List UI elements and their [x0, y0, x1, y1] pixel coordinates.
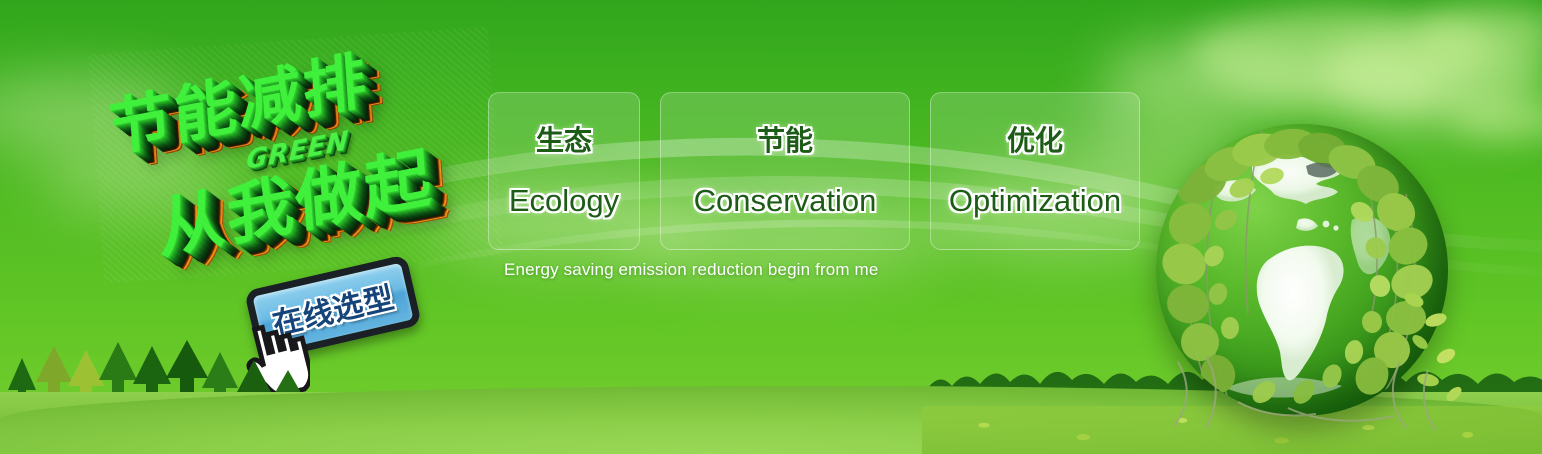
leafy-globe-icon: [1148, 116, 1458, 430]
feature-card-title-cn: 优化: [1007, 127, 1063, 155]
feature-card-title-cn: 生态: [536, 127, 592, 155]
feature-card-title-en: Optimization: [949, 185, 1121, 216]
feature-card-optimization[interactable]: 优化 Optimization: [930, 92, 1140, 250]
feature-card-conservation[interactable]: 节能 Conservation: [660, 92, 910, 250]
feature-card-list: 生态 Ecology 节能 Conservation 优化 Optimizati…: [488, 92, 1140, 250]
vine-roots-icon: [1148, 356, 1458, 436]
feature-card-ecology[interactable]: 生态 Ecology: [488, 92, 640, 250]
feature-card-title-en: Conservation: [694, 185, 877, 216]
feature-card-title-cn: 节能: [757, 127, 813, 155]
hero-title: 节能减排 GREEN 从我做起: [88, 26, 503, 283]
eco-banner: 节能减排 GREEN 从我做起 生态 Ecology 节能 Conservati…: [0, 0, 1542, 454]
feature-card-title-en: Ecology: [509, 185, 619, 216]
tagline: Energy saving emission reduction begin f…: [504, 260, 878, 280]
